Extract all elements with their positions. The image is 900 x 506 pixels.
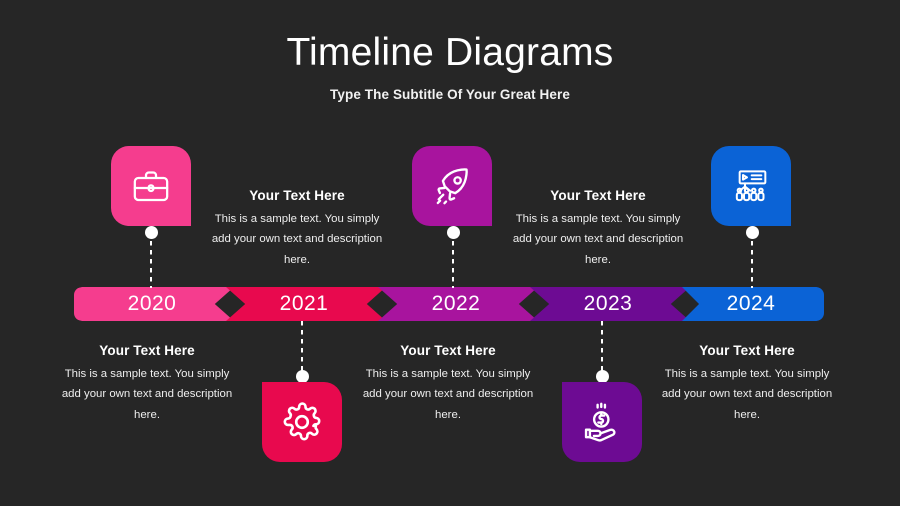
text-heading-2021: Your Text Here bbox=[211, 188, 383, 203]
text-body-2023: This is a sample text. You simply add yo… bbox=[512, 209, 684, 270]
text-heading-2020: Your Text Here bbox=[61, 343, 233, 358]
segment-year-2024: 2024 bbox=[682, 287, 824, 321]
text-body-2022: This is a sample text. You simply add yo… bbox=[362, 364, 534, 425]
connector-dash-2023 bbox=[601, 321, 603, 377]
text-body-2021: This is a sample text. You simply add yo… bbox=[211, 209, 383, 270]
timeline-segment-2022[interactable]: 2022 bbox=[378, 287, 538, 321]
segment-year-2020: 2020 bbox=[74, 287, 234, 321]
connector-dot-2024 bbox=[746, 226, 759, 239]
money-hand-icon bbox=[580, 400, 624, 444]
slide-canvas: Timeline Diagrams Type The Subtitle Of Y… bbox=[0, 0, 900, 506]
connector-dash-2024 bbox=[751, 232, 753, 288]
briefcase-icon bbox=[131, 166, 171, 206]
connector-dash-2022 bbox=[452, 232, 454, 288]
timeline-segment-2020[interactable]: 2020 bbox=[74, 287, 234, 321]
text-block-2024: Your Text Here This is a sample text. Yo… bbox=[661, 343, 833, 425]
segment-year-2023: 2023 bbox=[530, 287, 690, 321]
page-subtitle: Type The Subtitle Of Your Great Here bbox=[0, 87, 900, 102]
icon-tile-2023[interactable] bbox=[562, 382, 642, 462]
connector-dot-2022 bbox=[447, 226, 460, 239]
connector-2021 bbox=[301, 321, 303, 383]
text-body-2020: This is a sample text. You simply add yo… bbox=[61, 364, 233, 425]
connector-2024 bbox=[751, 226, 753, 288]
text-block-2022: Your Text Here This is a sample text. Yo… bbox=[362, 343, 534, 425]
text-body-2024: This is a sample text. You simply add yo… bbox=[661, 364, 833, 425]
segment-year-2021: 2021 bbox=[226, 287, 386, 321]
text-heading-2022: Your Text Here bbox=[362, 343, 534, 358]
icon-tile-2024[interactable] bbox=[711, 146, 791, 226]
segment-year-2022: 2022 bbox=[378, 287, 538, 321]
text-heading-2023: Your Text Here bbox=[512, 188, 684, 203]
gear-icon bbox=[281, 401, 323, 443]
timeline-segment-2023[interactable]: 2023 bbox=[530, 287, 690, 321]
timeline-segment-2021[interactable]: 2021 bbox=[226, 287, 386, 321]
icon-tile-2020[interactable] bbox=[111, 146, 191, 226]
connector-2022 bbox=[452, 226, 454, 288]
text-heading-2024: Your Text Here bbox=[661, 343, 833, 358]
connector-2023 bbox=[601, 321, 603, 383]
connector-dash-2020 bbox=[150, 232, 152, 288]
connector-dot-2020 bbox=[145, 226, 158, 239]
connector-dash-2021 bbox=[301, 321, 303, 377]
presentation-audience-icon bbox=[731, 166, 771, 206]
timeline-segment-2024[interactable]: 2024 bbox=[682, 287, 824, 321]
icon-tile-2021[interactable] bbox=[262, 382, 342, 462]
text-block-2020: Your Text Here This is a sample text. Yo… bbox=[61, 343, 233, 425]
timeline-bar: 2020 2021 2022 2023 2024 bbox=[74, 287, 824, 321]
page-title: Timeline Diagrams bbox=[0, 32, 900, 75]
rocket-icon bbox=[431, 165, 473, 207]
icon-tile-2022[interactable] bbox=[412, 146, 492, 226]
connector-2020 bbox=[150, 226, 152, 288]
text-block-2021: Your Text Here This is a sample text. Yo… bbox=[211, 188, 383, 270]
text-block-2023: Your Text Here This is a sample text. Yo… bbox=[512, 188, 684, 270]
